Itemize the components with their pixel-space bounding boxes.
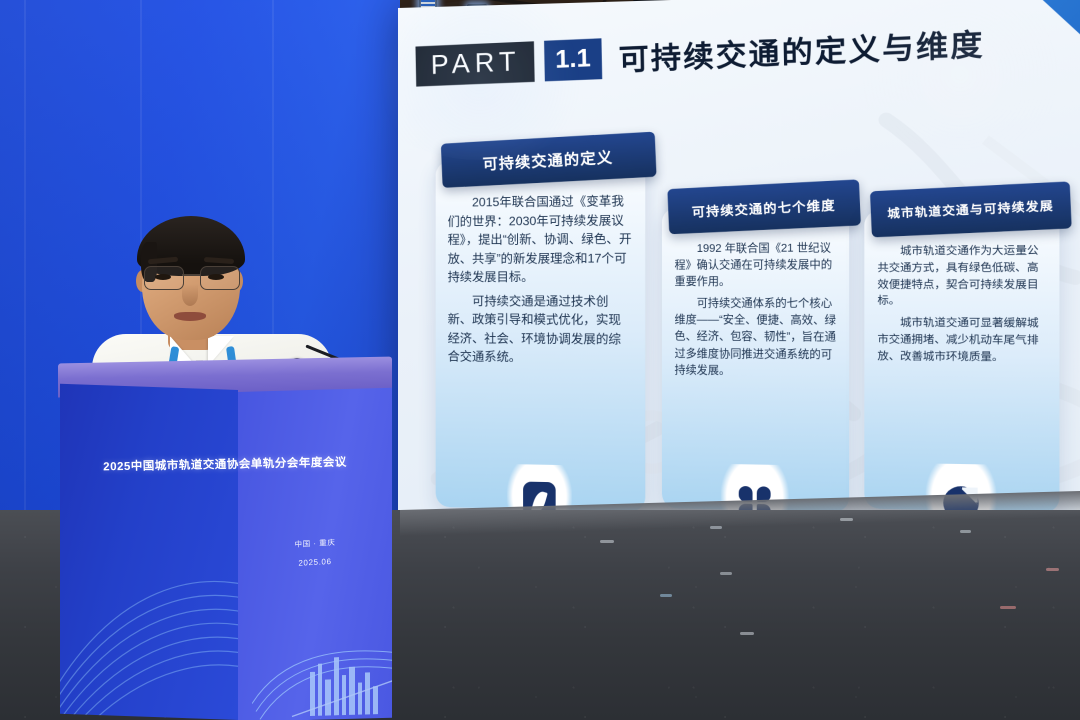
card-header-label: 城市轨道交通与可持续发展	[887, 197, 1054, 222]
floor-fleck	[1046, 568, 1059, 571]
conference-stage-scene: PART 1.1 可持续交通的定义与维度 可持续交通的定义 2015年联合国通过…	[0, 0, 1080, 720]
card-paragraph: 可持续交通是通过技术创新、政策引导和模式优化，实现经济、社会、环境协调发展的综合…	[448, 292, 633, 368]
podium-date: 2025.06	[238, 554, 392, 571]
card-definition: 可持续交通的定义 2015年联合国通过《变革我们的世界：2030年可持续发展议程…	[436, 159, 646, 512]
podium: 中国 · 重庆 2025.06	[60, 360, 390, 720]
part-chip: PART	[415, 41, 534, 86]
floor-fleck	[740, 632, 754, 635]
wall-seam	[24, 0, 26, 560]
floor-fleck	[600, 540, 614, 543]
card-paragraph: 可持续交通体系的七个核心维度——“安全、便捷、高效、绿色、经济、包容、韧性”，旨…	[674, 296, 836, 380]
card-paragraph: 2015年联合国通过《变革我们的世界：2030年可持续发展议程》，提出“创新、协…	[448, 192, 633, 287]
glasses-bridge	[182, 274, 200, 276]
card-header: 可持续交通的定义	[441, 132, 657, 188]
floor-fleck	[660, 594, 672, 597]
card-group: 可持续交通的定义 2015年联合国通过《变革我们的世界：2030年可持续发展议程…	[428, 117, 1080, 546]
card-paragraph: 城市轨道交通作为大运量公共交通方式，具有绿色低碳、高效便捷特点，契合可持续发展目…	[877, 243, 1046, 311]
arc-line-decoration	[60, 533, 238, 720]
podium-face-right: 中国 · 重庆 2025.06	[238, 388, 392, 720]
card-header: 城市轨道交通与可持续发展	[870, 181, 1072, 237]
nose	[182, 284, 198, 306]
floor-fleck	[1000, 606, 1016, 609]
card-seven-dimensions: 可持续交通的七个维度 1992 年联合国《21 世纪议程》确认交通在可持续发展中…	[662, 206, 849, 512]
podium-location: 中国 · 重庆	[238, 534, 392, 553]
city-skyline-graphic	[252, 607, 392, 720]
part-number-chip: 1.1	[544, 38, 603, 81]
floor-fleck	[840, 518, 853, 521]
card-body: 2015年联合国通过《变革我们的世界：2030年可持续发展议程》，提出“创新、协…	[448, 192, 633, 477]
floor-fleck	[960, 530, 971, 533]
card-header: 可持续交通的七个维度	[667, 179, 861, 234]
card-body: 城市轨道交通作为大运量公共交通方式，具有绿色低碳、高效便捷特点，契合可持续发展目…	[877, 243, 1046, 476]
mouth	[174, 312, 206, 321]
card-header-label: 可持续交通的定义	[482, 146, 613, 174]
card-body: 1992 年联合国《21 世纪议程》确认交通在可持续发展中的重要作用。 可持续交…	[674, 240, 836, 476]
floor-fleck	[720, 572, 732, 575]
floor-fleck	[710, 526, 722, 529]
podium-face-left	[60, 384, 238, 720]
card-urban-rail: 城市轨道交通与可持续发展 城市轨道交通作为大运量公共交通方式，具有绿色低碳、高效…	[864, 209, 1059, 513]
eye	[155, 274, 171, 280]
eye	[208, 274, 224, 280]
card-header-label: 可持续交通的七个维度	[691, 194, 836, 221]
card-paragraph: 1992 年联合国《21 世纪议程》确认交通在可持续发展中的重要作用。	[674, 240, 836, 291]
slide-title: 可持续交通的定义与维度	[618, 20, 985, 79]
card-paragraph: 城市轨道交通可显著缓解城市交通拥堵、减少机动车尾气排放、改善城市环境质量。	[877, 316, 1046, 367]
